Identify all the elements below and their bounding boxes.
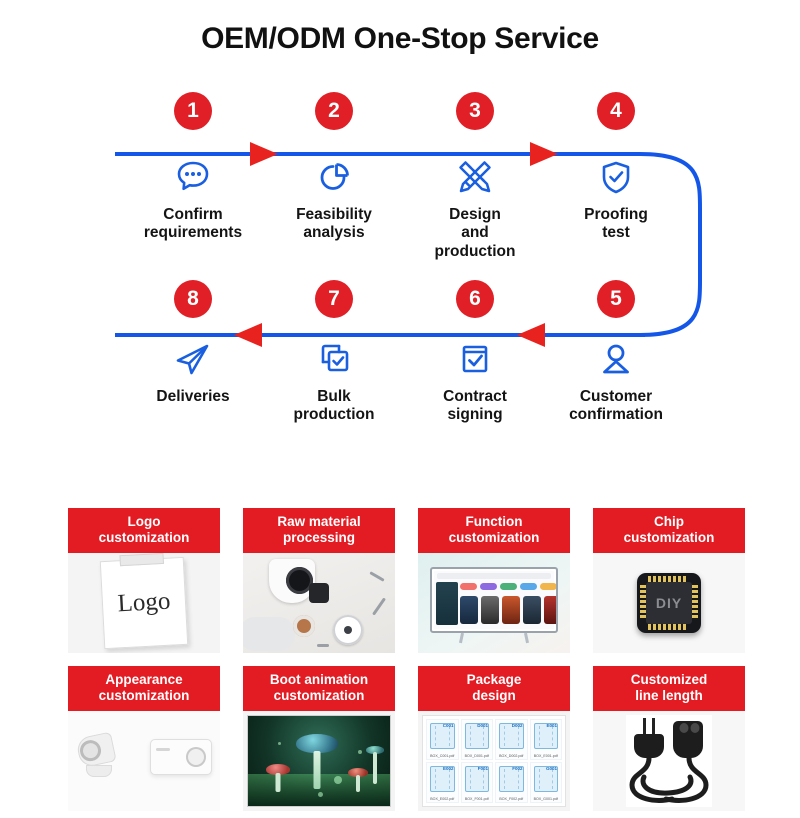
tv-poster-row: [460, 596, 558, 624]
dieline-code: D001: [477, 723, 488, 728]
card-title: Chipcustomization: [593, 508, 745, 553]
tweezers-art: [372, 597, 386, 615]
mushroom-small-art: [348, 768, 368, 792]
document-check-icon: [400, 334, 550, 384]
step-badge-2: 2: [315, 92, 353, 130]
step-badge-8: 8: [174, 280, 212, 318]
chat-bubble-icon: [118, 152, 268, 202]
projector-head-art: [75, 732, 116, 769]
flow-step-7: 7 Bulkproduction: [259, 280, 409, 425]
flow-step-4: 4 Proofingtest: [541, 92, 691, 243]
step-label-4: Proofingtest: [541, 206, 691, 243]
card-image-raw-material: [243, 553, 395, 653]
forest-glow-4: [318, 792, 323, 797]
dieline-cell: F002BOX_F002.pdf: [495, 762, 528, 803]
gloved-hand-art: [243, 617, 295, 651]
step-label-1: Confirmrequirements: [118, 206, 268, 243]
dieline-caption: BOX_C001.pdf: [427, 754, 458, 758]
tv-ui-art: [434, 571, 554, 629]
card-image-package-design: C001BOX_C001.pdf D001BOX_D001.pdf D002BO…: [418, 711, 570, 811]
service-card-grid: Logocustomization Logo Raw materialproce…: [68, 508, 750, 818]
card-title: Packagedesign: [418, 666, 570, 711]
dieline-caption: BOX_D002.pdf: [496, 754, 527, 758]
person-icon: [541, 334, 691, 384]
chip-art: DIY: [637, 573, 701, 633]
fan-part-art: [333, 615, 363, 645]
motor-part-art: [309, 583, 329, 603]
flow-step-5: 5 Customerconfirmation: [541, 280, 691, 425]
dieline-caption: BOX_E002.pdf: [427, 797, 458, 801]
process-flow: 1 Confirmrequirements 2 F: [0, 80, 800, 450]
card-title: Customizedline length: [593, 666, 745, 711]
power-cable-svg: [626, 715, 712, 807]
mushroom-medium-art: [266, 764, 290, 792]
pie-chart-icon: [259, 152, 409, 202]
tv-screen-art: [430, 567, 558, 633]
flow-step-1: 1 Confirmrequirements: [118, 92, 268, 243]
tv-stand-art: [456, 633, 532, 643]
card-chip-customization[interactable]: Chipcustomization DIY: [593, 508, 745, 653]
raw-material-art: [243, 553, 395, 653]
dieline-code: E002: [443, 766, 454, 771]
tv-category-pills: [460, 583, 557, 590]
card-title: Raw materialprocessing: [243, 508, 395, 553]
mushroom-large-art: [296, 734, 338, 790]
ruler-pencil-icon: [400, 152, 550, 202]
step-badge-7: 7: [315, 280, 353, 318]
step-label-2: Feasibilityanalysis: [259, 206, 409, 243]
card-title: Logocustomization: [68, 508, 220, 553]
step-label-6: Contractsigning: [400, 388, 550, 425]
chip-pins-right: [692, 585, 698, 618]
projector-box-art: [150, 739, 212, 775]
chip-pins-bottom: [648, 624, 686, 630]
projector-round-art: [78, 735, 122, 769]
flow-step-6: 6 Contractsigning: [400, 280, 550, 425]
clip-art: [119, 553, 164, 566]
dieline-code: D002: [512, 723, 523, 728]
shield-check-icon: [541, 152, 691, 202]
card-image-smart-tv: [418, 553, 570, 653]
dieline-sheet-art: C001BOX_C001.pdf D001BOX_D001.pdf D002BO…: [422, 715, 566, 807]
dieline-code: F002: [512, 766, 522, 771]
card-row-2: Appearancecustomization Boot animationcu…: [68, 666, 750, 811]
dieline-code: G001: [546, 766, 557, 771]
card-raw-material-processing[interactable]: Raw materialprocessing: [243, 508, 395, 653]
dieline-cell: D002BOX_D002.pdf: [495, 719, 528, 760]
card-row-1: Logocustomization Logo Raw materialproce…: [68, 508, 750, 653]
logo-sheet-art: Logo: [100, 557, 188, 649]
card-title: Boot animationcustomization: [243, 666, 395, 711]
step-label-5: Customerconfirmation: [541, 388, 691, 425]
dieline-caption: BOX_F001.pdf: [462, 797, 493, 801]
projector-base-art: [86, 765, 112, 777]
chip-core-art: DIY: [646, 582, 692, 624]
copper-ring-art: [293, 615, 315, 637]
dieline-caption: BOX_E001.pdf: [531, 754, 562, 758]
card-image-power-cable: [593, 711, 745, 811]
card-image-boot-animation: [243, 711, 395, 811]
step-badge-3: 3: [456, 92, 494, 130]
step-label-8: Deliveries: [118, 388, 268, 406]
step-label-3: Designandproduction: [400, 206, 550, 261]
dieline-code: F001: [478, 766, 488, 771]
page-title: OEM/ODM One-Stop Service: [0, 22, 800, 56]
tv-featured-panel-art: [436, 582, 458, 625]
step-badge-1: 1: [174, 92, 212, 130]
card-function-customization[interactable]: Functioncustomization: [418, 508, 570, 653]
dieline-cell: C001BOX_C001.pdf: [426, 719, 459, 760]
card-image-chip: DIY: [593, 553, 745, 653]
card-title: Appearancecustomization: [68, 666, 220, 711]
mushroom-far-art: [366, 746, 384, 786]
dieline-caption: BOX_D001.pdf: [462, 754, 493, 758]
logo-placeholder-text: Logo: [117, 588, 171, 619]
step-badge-6: 6: [456, 280, 494, 318]
cable-photo-art: [626, 715, 712, 807]
tv-navbar-art: [437, 573, 551, 579]
dieline-cell: G001BOX_G001.pdf: [530, 762, 563, 803]
step-label-7: Bulkproduction: [259, 388, 409, 425]
dieline-grid: C001BOX_C001.pdf D001BOX_D001.pdf D002BO…: [426, 719, 562, 803]
dieline-cell: F001BOX_F001.pdf: [461, 762, 494, 803]
card-boot-animation-customization[interactable]: Boot animationcustomization: [243, 666, 395, 811]
dieline-cell: E001BOX_E001.pdf: [530, 719, 563, 760]
card-title: Functioncustomization: [418, 508, 570, 553]
screwdriver-art: [369, 571, 384, 582]
card-image-logo: Logo: [68, 553, 220, 653]
dieline-cell: D001BOX_D001.pdf: [461, 719, 494, 760]
dieline-code: C001: [443, 723, 454, 728]
flow-step-2: 2 Feasibilityanalysis: [259, 92, 409, 243]
chip-label-text: DIY: [656, 595, 682, 611]
infographic-page: OEM/ODM One-Stop Service 1: [0, 0, 800, 818]
dieline-code: E001: [546, 723, 557, 728]
card-customized-line-length[interactable]: Customizedline length: [593, 666, 745, 811]
forest-scene-art: [247, 715, 391, 807]
dieline-cell: E002BOX_E002.pdf: [426, 762, 459, 803]
step-badge-4: 4: [597, 92, 635, 130]
card-appearance-customization[interactable]: Appearancecustomization: [68, 666, 220, 811]
copy-check-icon: [259, 334, 409, 384]
card-image-appearance: [68, 711, 220, 811]
step-badge-5: 5: [597, 280, 635, 318]
forest-glow-1: [334, 776, 342, 784]
screw-art: [317, 644, 329, 647]
dieline-caption: BOX_G001.pdf: [531, 797, 562, 801]
flow-step-8: 8 Deliveries: [118, 280, 268, 406]
card-package-design[interactable]: Packagedesign C001BOX_C001.pdf D001BOX_D…: [418, 666, 570, 811]
paper-plane-icon: [118, 334, 268, 384]
flow-step-3: 3 Designandproduction: [400, 92, 550, 261]
forest-glow-2: [358, 750, 362, 754]
dieline-caption: BOX_F002.pdf: [496, 797, 527, 801]
forest-glow-3: [278, 742, 281, 745]
card-logo-customization[interactable]: Logocustomization Logo: [68, 508, 220, 653]
